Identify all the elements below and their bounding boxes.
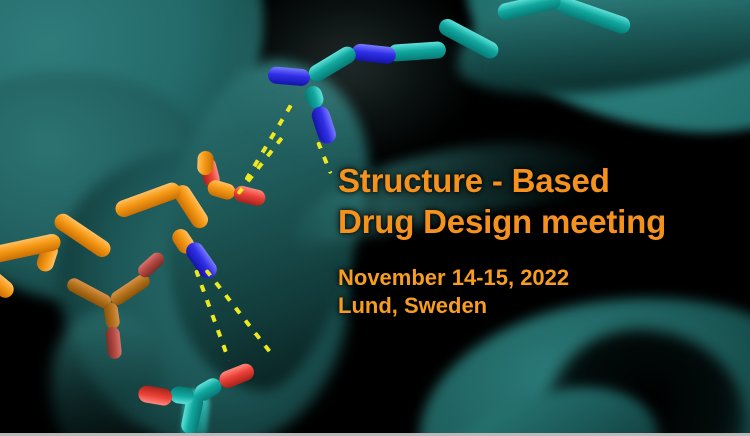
cyan-bond-guanidinium-cz [306, 43, 359, 84]
title-line-2: Drug Design meeting [338, 201, 738, 242]
nitrogen-ligand [183, 239, 221, 282]
orange-bond-ring-4 [0, 260, 17, 301]
text-block: Structure - Based Drug Design meeting No… [338, 160, 738, 320]
surface-glow-haze [230, 0, 470, 160]
cyan-bond-chain-2 [496, 0, 562, 22]
protein-surface-top-left [0, 0, 300, 258]
hydrogen-bond-5 [204, 269, 276, 360]
orange-bond-carboxyl-c [197, 151, 214, 176]
subtitle-location: Lund, Sweden [338, 292, 738, 320]
oxygen-dim-bottom [105, 326, 122, 359]
orange-dim-bond-3 [103, 302, 120, 330]
cyan-bond-chain-3 [436, 16, 501, 62]
cyan-bond-chain-4 [387, 41, 446, 62]
oxygen-right [232, 184, 267, 207]
subtitle-date: November 14-15, 2022 [338, 264, 738, 292]
nitrogen-epsilon [351, 43, 397, 65]
oxygen-dim-right [135, 250, 167, 280]
oxygen-asp-1 [217, 361, 257, 390]
orange-bond-cb-ring [113, 180, 183, 219]
poster-title: Structure - Based Drug Design meeting [338, 160, 738, 242]
poster-subtitle: November 14-15, 2022 Lund, Sweden [338, 264, 738, 320]
hydrogen-bond-1 [236, 131, 287, 195]
nitrogen-eta-1 [267, 66, 310, 87]
hydrogen-bond-3 [316, 141, 332, 174]
hydrogen-bond-4 [194, 269, 231, 361]
cyan-bond-asp-o2 [169, 386, 195, 405]
oxygen-asp-2 [137, 384, 173, 407]
protein-surface-bottom-ridge [419, 369, 671, 436]
poster-canvas: Structure - Based Drug Design meeting No… [0, 0, 750, 436]
orange-bond-ring-1 [51, 210, 114, 260]
nitrogen-eta-2 [309, 104, 338, 146]
cyan-bond-chain-1 [553, 0, 632, 36]
protein-surface-binding-cavity [528, 311, 750, 436]
hydrogen-bond-2 [244, 97, 297, 181]
title-line-1: Structure - Based [338, 160, 738, 201]
orange-bond-c-o2 [206, 178, 237, 201]
